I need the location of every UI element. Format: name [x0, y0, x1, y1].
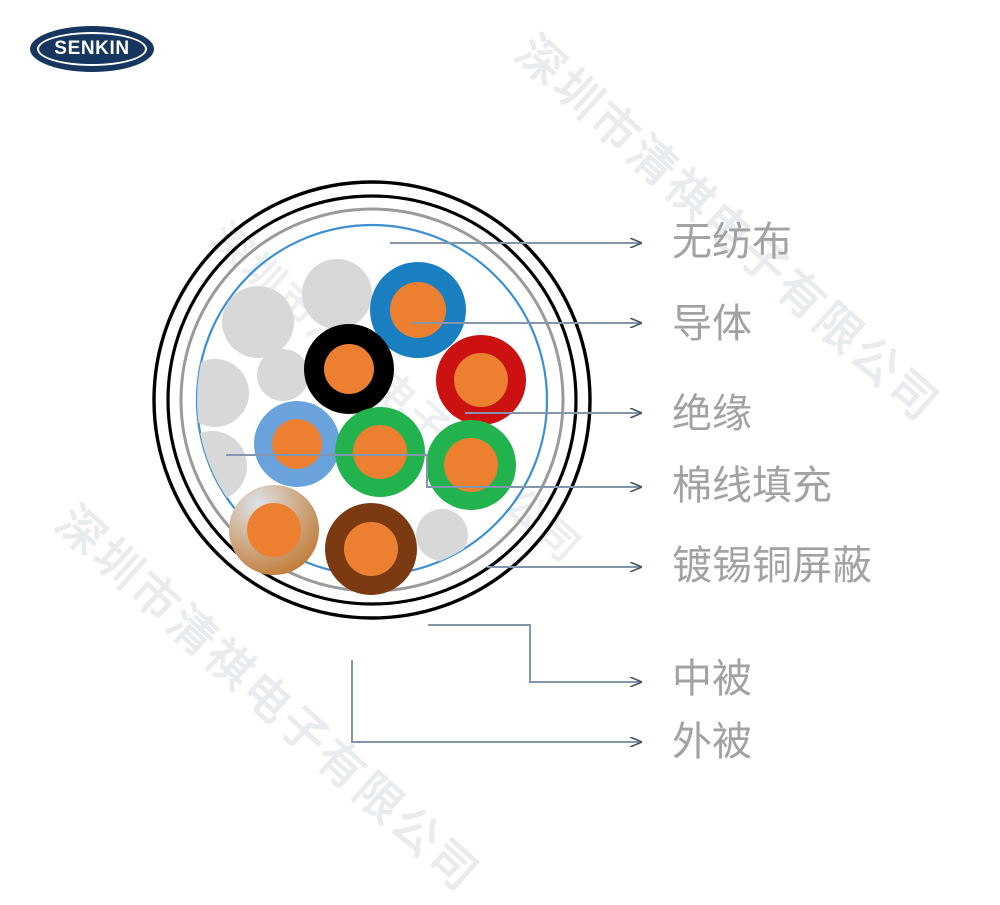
callout-label-midjacket: 中被 [672, 659, 752, 699]
filler-circle [181, 359, 249, 427]
filler-circle [302, 259, 372, 329]
wire-conductor [454, 353, 508, 407]
wire-tan [229, 485, 319, 575]
filler-circle [257, 349, 309, 401]
wire-conductor [247, 503, 301, 557]
callout-label-conductor: 导体 [672, 304, 752, 344]
filler-circle [416, 509, 468, 561]
cable-cross-section-diagram [0, 0, 1000, 850]
leader-midjacket [428, 625, 641, 682]
wire-brown [325, 503, 417, 595]
callout-label-shield: 镀锡铜屏蔽 [672, 546, 872, 586]
wire-light-blue [254, 401, 340, 487]
wire-conductor [390, 282, 446, 338]
filler-circle [222, 286, 294, 358]
callout-label-insulation: 绝缘 [672, 394, 752, 434]
wire-black [304, 324, 394, 414]
wire-green-right [426, 420, 516, 510]
wire-conductor [324, 344, 374, 394]
callout-label-filler: 棉线填充 [672, 466, 832, 506]
wire-conductor [272, 419, 322, 469]
leader-outjacket [352, 660, 641, 742]
wire-conductor [353, 425, 407, 479]
wire-conductor [444, 438, 498, 492]
wire-red [436, 335, 526, 425]
wire-green-left [335, 407, 425, 497]
callout-label-outjacket: 外被 [672, 722, 752, 762]
callout-label-nonwoven: 无纺布 [672, 222, 792, 262]
wire-conductor [344, 522, 398, 576]
